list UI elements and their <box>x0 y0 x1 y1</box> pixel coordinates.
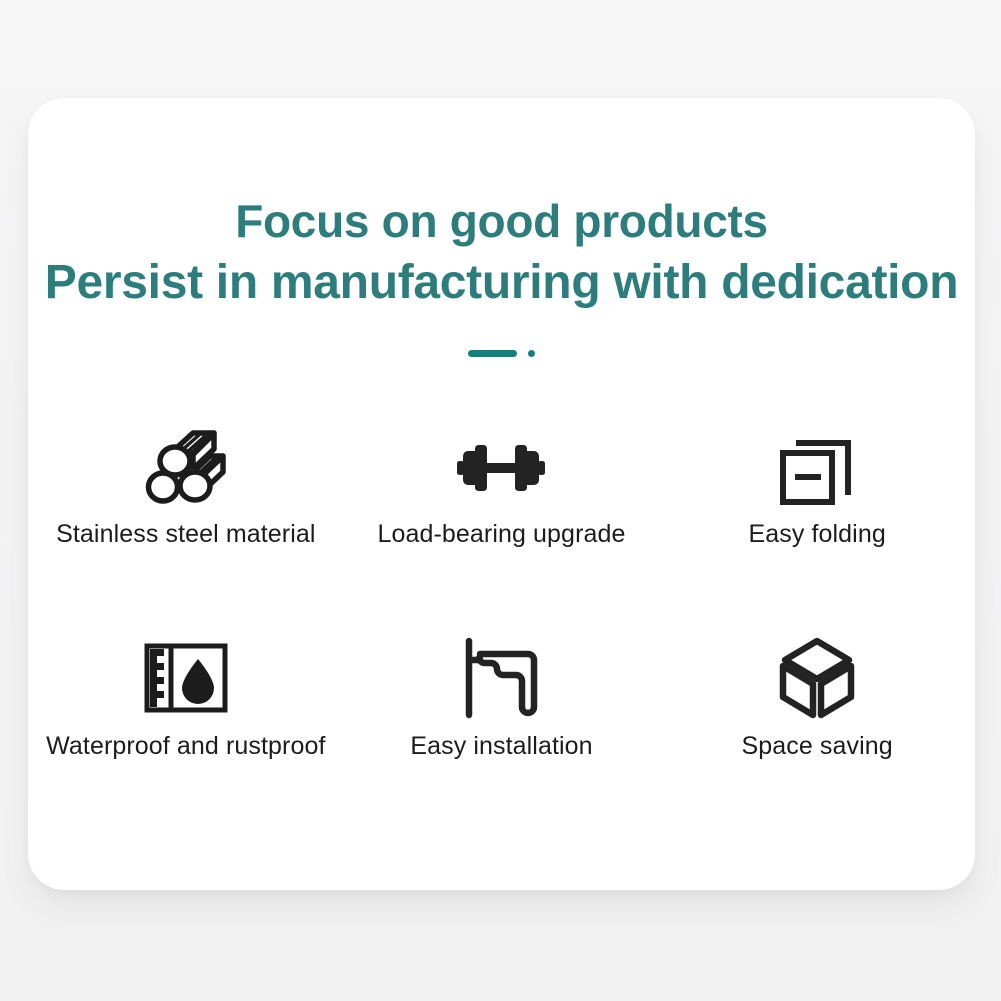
feature-label: Space saving <box>742 732 893 761</box>
feature-card: Focus on good products Persist in manufa… <box>28 98 975 890</box>
feature-item-stainless-steel: Stainless steel material <box>28 420 344 628</box>
feature-label: Waterproof and rustproof <box>46 732 325 761</box>
feature-item-waterproof: Waterproof and rustproof <box>28 628 344 836</box>
dumbbell-icon <box>455 420 547 516</box>
feature-label: Load-bearing upgrade <box>377 520 625 549</box>
wall-bracket-icon <box>458 628 544 728</box>
feature-item-space-saving: Space saving <box>659 628 975 836</box>
feature-item-easy-installation: Easy installation <box>344 628 660 836</box>
divider-bar-icon <box>468 350 517 357</box>
waterdrop-panel-icon <box>143 628 229 728</box>
feature-item-easy-folding: Easy folding <box>659 420 975 628</box>
feature-label: Easy installation <box>410 732 592 761</box>
feature-item-load-bearing: Load-bearing upgrade <box>344 420 660 628</box>
steel-pipes-icon <box>144 420 228 516</box>
headline-line-1: Focus on good products <box>28 190 975 252</box>
headline-line-2: Persist in manufacturing with dedication <box>28 252 975 314</box>
feature-label: Stainless steel material <box>56 520 315 549</box>
cube-box-icon <box>777 628 857 728</box>
page-title: Focus on good products Persist in manufa… <box>28 190 975 314</box>
fold-squares-icon <box>778 420 856 516</box>
divider <box>28 350 975 357</box>
feature-label: Easy folding <box>748 520 885 549</box>
features-grid: Stainless steel material Load-bea <box>28 420 975 836</box>
divider-dot-icon <box>528 350 535 357</box>
